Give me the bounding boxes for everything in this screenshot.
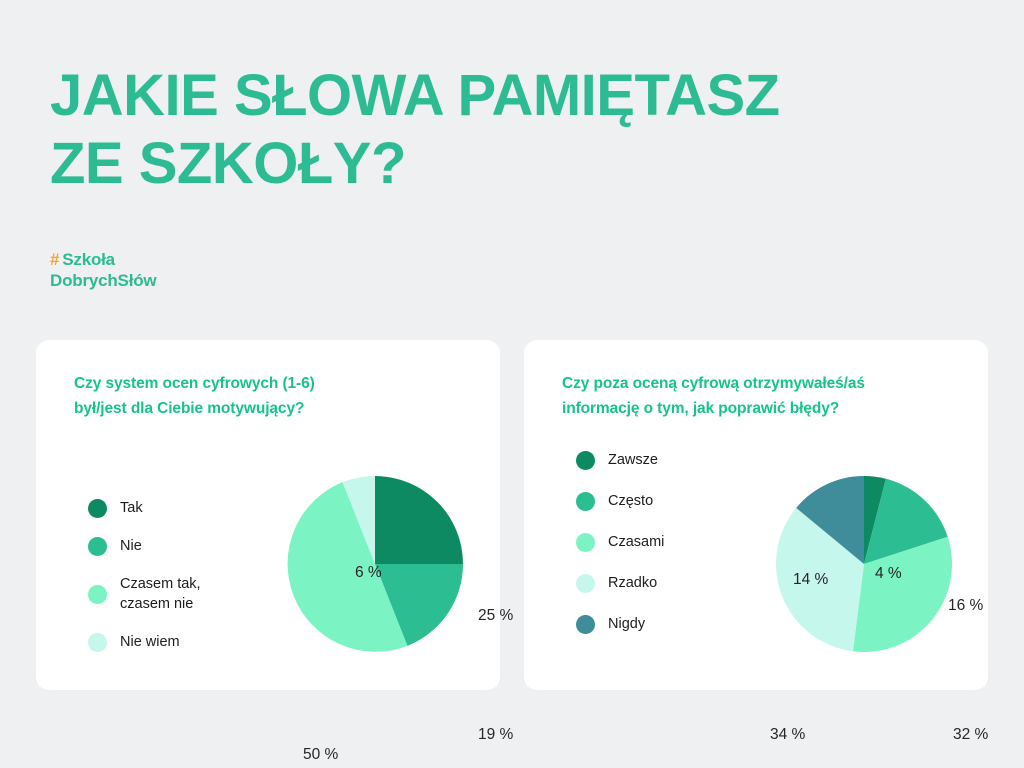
legend-swatch-icon [576, 574, 595, 593]
pie-svg [764, 464, 964, 664]
logo-word-szkola: Szkoła [62, 250, 115, 269]
legend-item-label: Zawsze [608, 450, 658, 470]
pie-slice [375, 476, 463, 564]
legend-item-label: Czasem tak, czasem nie [120, 574, 201, 614]
infographic-canvas: JAKIE SŁOWA PAMIĘTASZ ZE SZKOŁY? #Szkoła… [0, 0, 1024, 768]
pie-percent-label: 16 % [948, 597, 983, 615]
legend-item: Często [576, 491, 664, 511]
legend-swatch-icon [576, 492, 595, 511]
legend-item-label: Nie [120, 536, 142, 556]
page-title: JAKIE SŁOWA PAMIĘTASZ ZE SZKOŁY? [50, 62, 950, 199]
card-1-question: Czy system ocen cyfrowych (1-6) był/jest… [74, 371, 474, 421]
pie-percent-label: 4 % [875, 565, 902, 583]
legend-item: Zawsze [576, 450, 664, 470]
pie-percent-label: 19 % [478, 726, 513, 744]
legend-item: Nie wiem [88, 632, 201, 652]
legend-swatch-icon [88, 633, 107, 652]
legend-swatch-icon [576, 533, 595, 552]
card-2-question: Czy poza oceną cyfrową otrzymywałeś/aś i… [562, 371, 962, 421]
legend-swatch-icon [88, 585, 107, 604]
pie-percent-label: 32 % [953, 726, 988, 744]
legend-item: Tak [88, 498, 201, 518]
pie-percent-label: 14 % [793, 571, 828, 589]
card-2-legend: ZawszeCzęstoCzasamiRzadkoNigdy [576, 450, 664, 655]
legend-swatch-icon [88, 499, 107, 518]
pie-percent-label: 50 % [303, 746, 338, 764]
hash-icon: # [50, 250, 59, 269]
legend-swatch-icon [576, 451, 595, 470]
legend-item: Rzadko [576, 573, 664, 593]
card-1-pie-chart: 25 %19 %50 %6 % [275, 464, 475, 664]
legend-item: Nigdy [576, 614, 664, 634]
legend-item-label: Tak [120, 498, 143, 518]
pie-percent-label: 6 % [355, 564, 382, 582]
card-1-legend: TakNieCzasem tak, czasem nieNie wiem [88, 498, 201, 670]
legend-item: Nie [88, 536, 201, 556]
legend-swatch-icon [576, 615, 595, 634]
pie-percent-label: 34 % [770, 726, 805, 744]
brand-logo: #Szkoła DobrychSłów [50, 250, 156, 291]
legend-item-label: Rzadko [608, 573, 657, 593]
legend-item: Czasami [576, 532, 664, 552]
card-2-pie-chart: 4 %16 %32 %34 %14 % [764, 464, 964, 664]
logo-line-1: #Szkoła [50, 250, 115, 269]
legend-item-label: Nie wiem [120, 632, 180, 652]
logo-line-2: DobrychSłów [50, 271, 156, 290]
pie-percent-label: 25 % [478, 607, 513, 625]
legend-item-label: Nigdy [608, 614, 645, 634]
chart-card-1: Czy system ocen cyfrowych (1-6) był/jest… [36, 340, 500, 690]
legend-swatch-icon [88, 537, 107, 556]
legend-item-label: Często [608, 491, 653, 511]
chart-card-2: Czy poza oceną cyfrową otrzymywałeś/aś i… [524, 340, 988, 690]
legend-item: Czasem tak, czasem nie [88, 574, 201, 614]
legend-item-label: Czasami [608, 532, 664, 552]
